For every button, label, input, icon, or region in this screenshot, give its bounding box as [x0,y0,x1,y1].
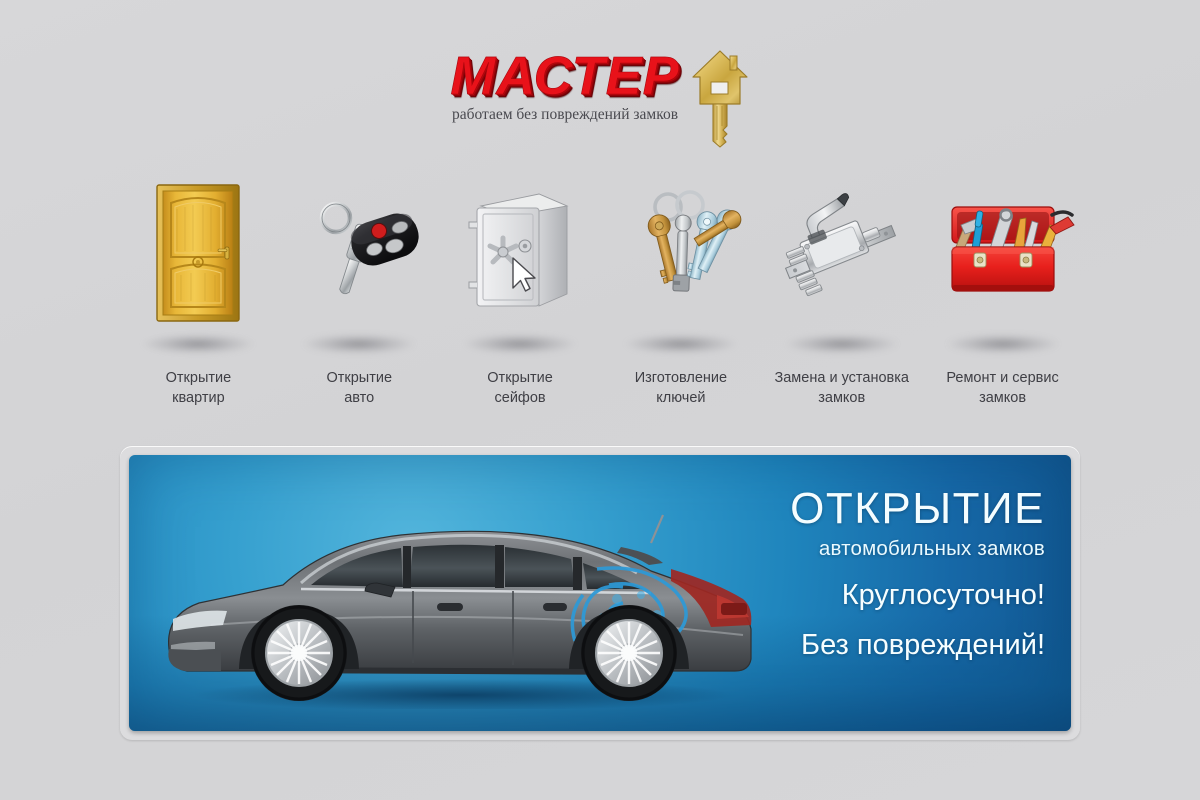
safe-icon [455,186,585,321]
service-item-repair[interactable]: Ремонт и сервис замков [922,178,1083,408]
service-label-line1: Ремонт и сервис [923,368,1083,388]
toolbox-icon [928,191,1078,316]
service-item-keys[interactable]: Изготовление ключей [600,178,761,408]
service-label: Ремонт и сервис замков [923,368,1083,408]
site-header: МАСТЕР работаем без повреждений замков [0,44,1200,159]
house-key-icon [690,46,750,151]
service-art [922,178,1083,328]
door-icon [155,183,241,323]
services-row: Открытие квартир [118,178,1083,408]
service-label: Открытие сейфов [440,368,600,408]
keys-bunch-icon [616,183,746,323]
logo-text-wrap: МАСТЕР работаем без повреждений замков [450,44,679,124]
icon-shadow [464,334,576,354]
icon-shadow [142,334,254,354]
service-label-line1: Открытие [440,368,600,388]
service-label: Изготовление ключей [601,368,761,408]
logo-wordmark: МАСТЕР [450,48,679,104]
service-item-car[interactable]: Открытие авто [279,178,440,408]
service-art [761,178,922,328]
icon-shadow [303,334,415,354]
service-label-line1: Изготовление [601,368,761,388]
icon-shadow [625,334,737,354]
banner-line-2: Без повреждений! [655,625,1045,665]
banner-line-1: Круглосуточно! [655,575,1045,615]
service-label-line2: замков [923,388,1083,408]
service-label-line2: авто [279,388,439,408]
service-label-line2: замков [762,388,922,408]
banner-text-block: ОТКРЫТИЕ автомобильных замков Круглосуто… [655,485,1045,665]
logo[interactable]: МАСТЕР работаем без повреждений замков [450,44,749,151]
service-item-safe[interactable]: Открытие сейфов [440,178,601,408]
banner-subtitle: автомобильных замков [655,535,1045,563]
service-art [440,178,601,328]
car-key-fob-icon [294,188,424,318]
service-label-line2: сейфов [440,388,600,408]
promo-banner-frame[interactable]: ОТКРЫТИЕ автомобильных замков Круглосуто… [120,446,1080,740]
service-label: Замена и установка замков [762,368,922,408]
promo-banner[interactable]: ОТКРЫТИЕ автомобильных замков Круглосуто… [129,455,1071,731]
page-background: МАСТЕР работаем без повреждений замков [0,0,1200,800]
service-label-line1: Открытие [118,368,278,388]
icon-shadow [786,334,898,354]
service-art [118,178,279,328]
logo-tagline: работаем без повреждений замков [452,106,678,124]
service-label-line2: квартир [118,388,278,408]
service-label: Открытие квартир [118,368,278,408]
door-lock-mechanism-icon [772,188,912,318]
banner-title: ОТКРЫТИЕ [655,485,1045,533]
service-art [600,178,761,328]
service-label: Открытие авто [279,368,439,408]
service-label-line2: ключей [601,388,761,408]
service-label-line1: Открытие [279,368,439,388]
service-label-line1: Замена и установка [762,368,922,388]
service-art [279,178,440,328]
service-item-door[interactable]: Открытие квартир [118,178,279,408]
service-item-lock[interactable]: Замена и установка замков [761,178,922,408]
icon-shadow [947,334,1059,354]
